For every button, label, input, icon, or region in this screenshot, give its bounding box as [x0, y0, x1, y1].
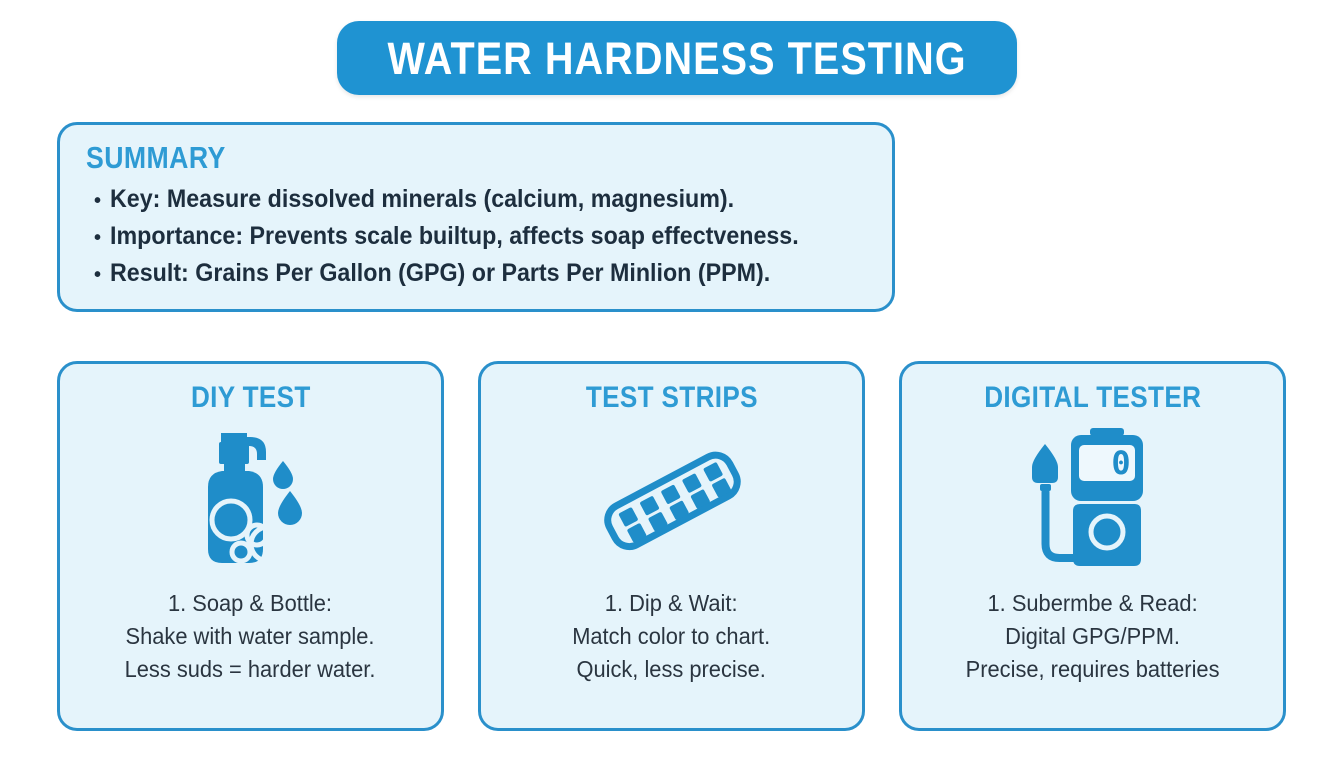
test-strip-icon: [582, 422, 762, 577]
card-body-line: Match color to chart.: [573, 620, 771, 653]
soap-bottle-icon: [186, 422, 316, 577]
card-body-line: Digital GPG/PPM.: [966, 620, 1220, 653]
methods-card-row: DIY TEST: [57, 361, 1286, 731]
summary-item-text: Importance: Prevents scale builtup, affe…: [110, 218, 799, 255]
page-title-banner: WATER HARDNESS TESTING: [337, 21, 1017, 95]
summary-list: • Key: Measure dissolved minerals (calci…: [86, 181, 866, 291]
card-title: DIY TEST: [191, 381, 311, 414]
card-title: DIGITAL TESTER: [984, 381, 1201, 414]
summary-heading: SUMMARY: [86, 141, 757, 175]
card-body-line: 1. Dip & Wait:: [573, 587, 771, 620]
card-body-line: Less suds = harder water.: [125, 653, 376, 686]
card-body-line: Quick, less precise.: [573, 653, 771, 686]
summary-item-text: Key: Measure dissolved minerals (calcium…: [110, 181, 734, 218]
card-title: TEST STRIPS: [585, 381, 757, 414]
card-test-strips: TEST STRIPS: [478, 361, 865, 731]
meter-display-value: 0: [1111, 444, 1130, 482]
card-digital-tester: DIGITAL TESTER: [899, 361, 1286, 731]
page-title: WATER HARDNESS TESTING: [387, 36, 966, 81]
summary-item-text: Result: Grains Per Gallon (GPG) or Parts…: [110, 255, 770, 292]
card-body-line: Shake with water sample.: [125, 620, 376, 653]
bullet-icon: •: [94, 191, 101, 211]
summary-list-item: • Result: Grains Per Gallon (GPG) or Par…: [86, 255, 866, 292]
card-body: 1. Subermbe & Read: Digital GPG/PPM. Pre…: [959, 587, 1226, 686]
card-body-line: Precise, requires batteries: [966, 653, 1220, 686]
digital-meter-icon: 0: [1018, 422, 1168, 577]
summary-list-item: • Importance: Prevents scale builtup, af…: [86, 218, 866, 255]
card-diy-test: DIY TEST: [57, 361, 444, 731]
card-body-line: 1. Subermbe & Read:: [966, 587, 1220, 620]
bullet-icon: •: [94, 228, 101, 248]
card-body-line: 1. Soap & Bottle:: [125, 587, 376, 620]
summary-panel: SUMMARY • Key: Measure dissolved mineral…: [57, 122, 895, 312]
summary-list-item: • Key: Measure dissolved minerals (calci…: [86, 181, 866, 218]
card-body: 1. Dip & Wait: Match color to chart. Qui…: [567, 587, 775, 686]
card-body: 1. Soap & Bottle: Shake with water sampl…: [118, 587, 382, 686]
bullet-icon: •: [94, 265, 101, 285]
